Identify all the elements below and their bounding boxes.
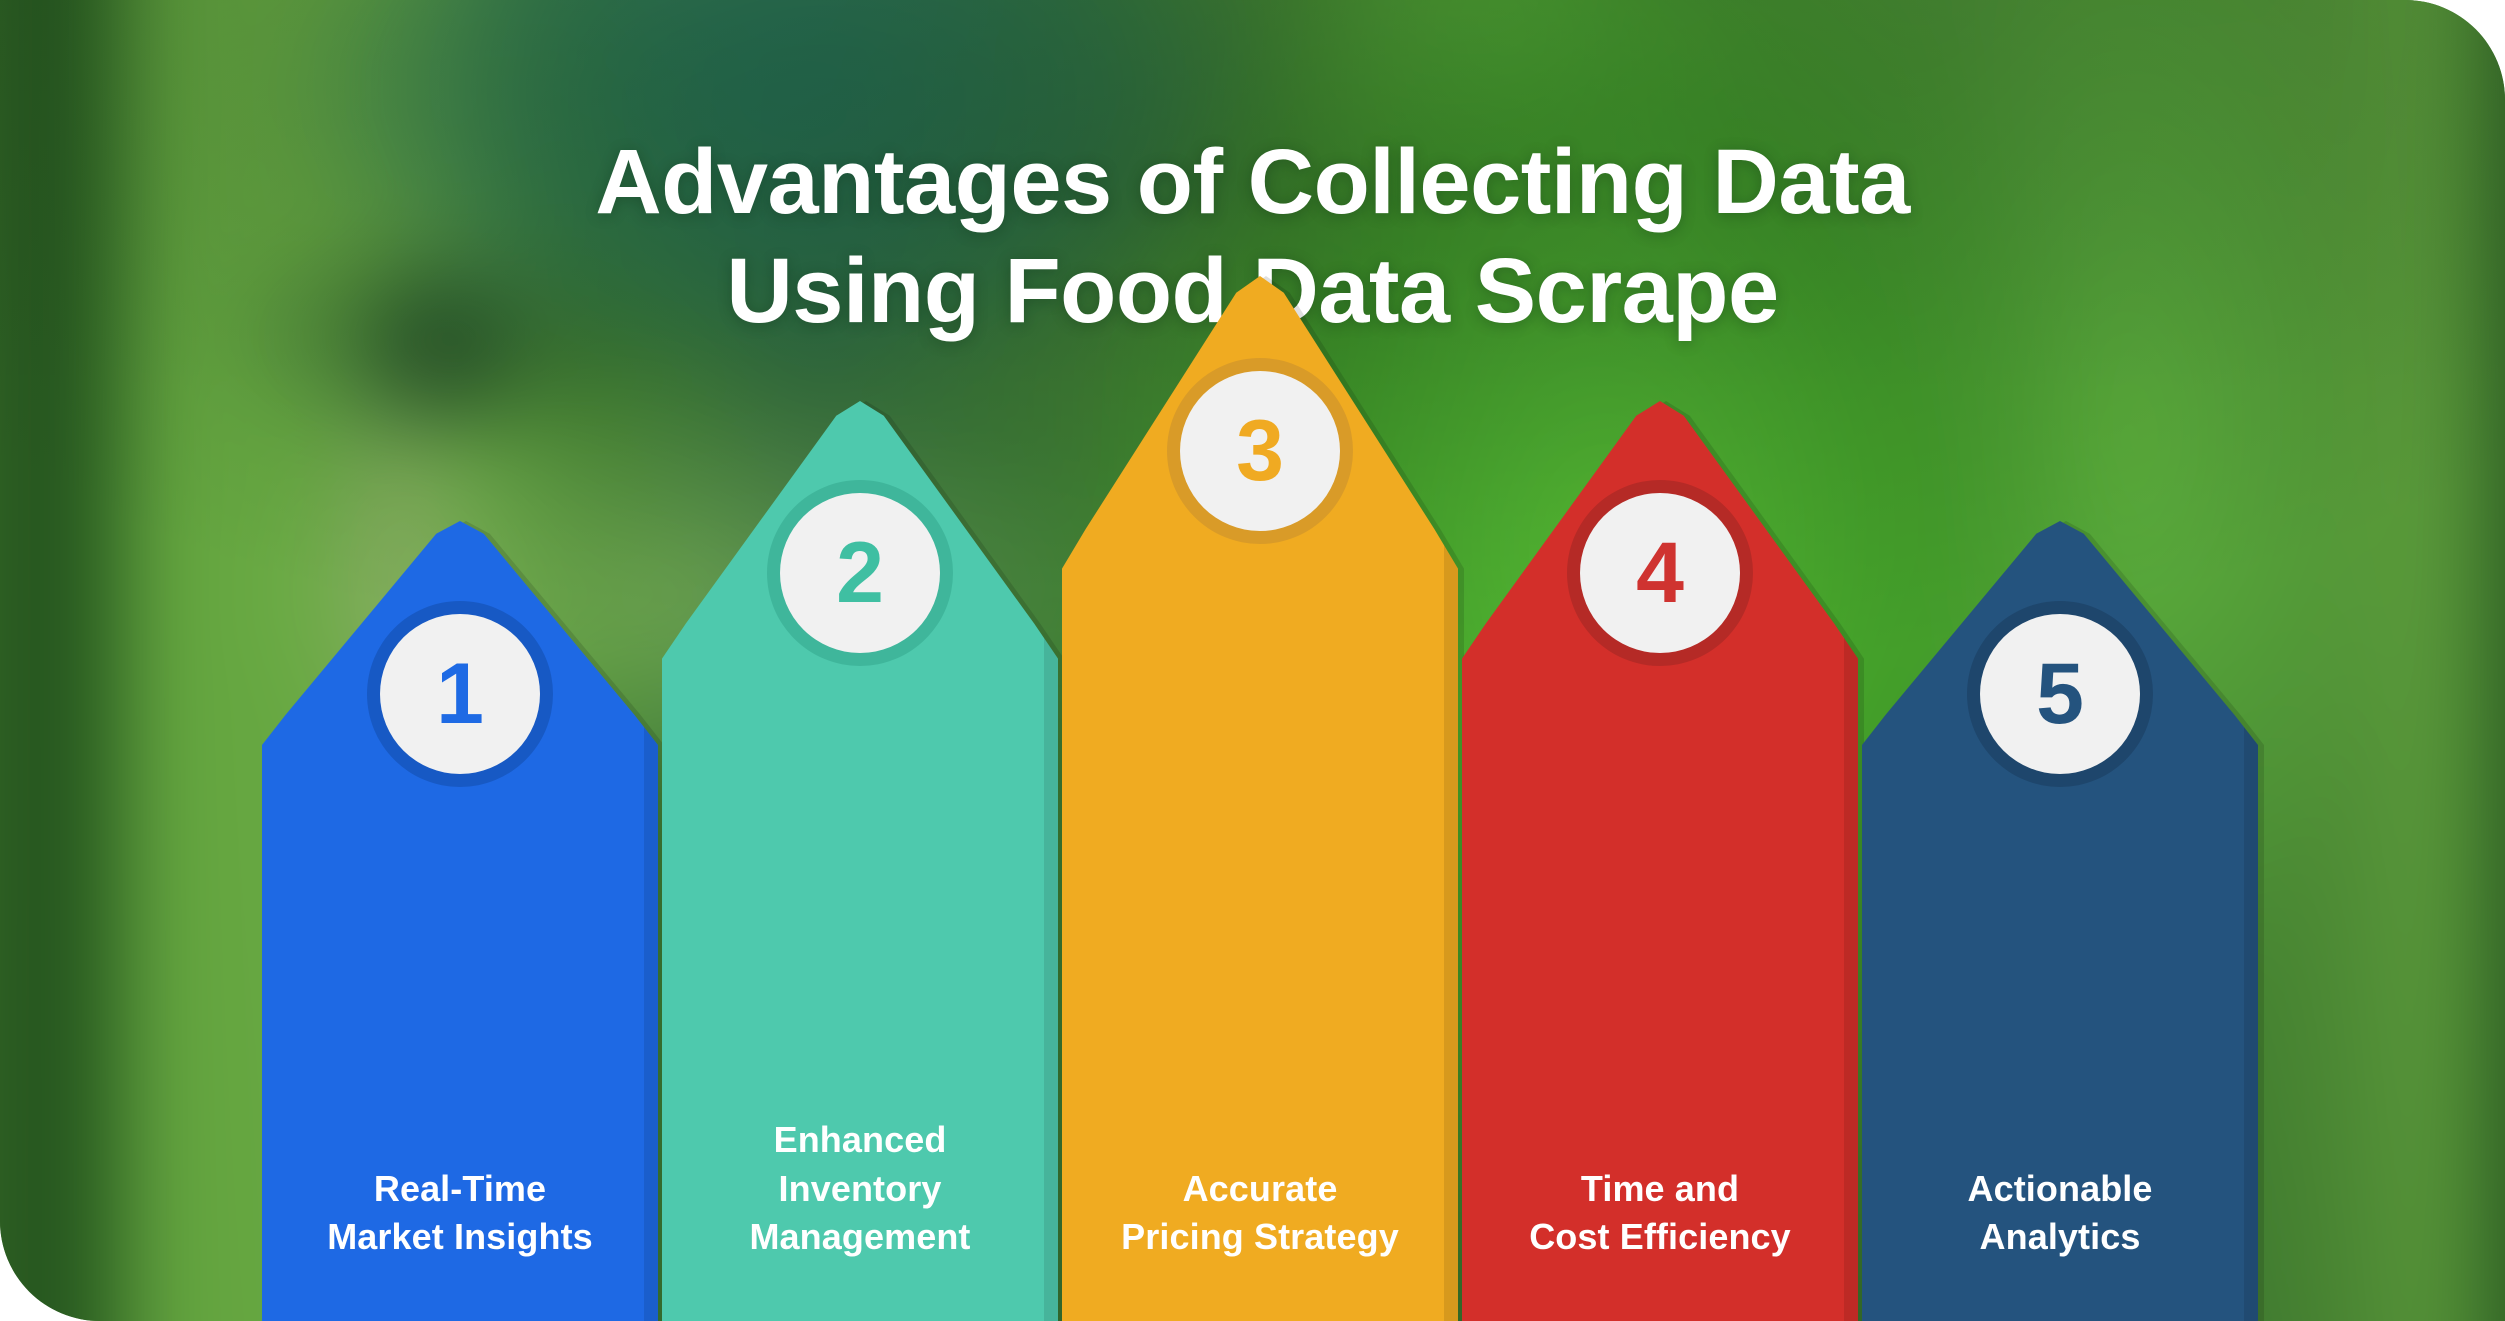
pillar-caption-3: Accurate Pricing Strategy <box>1062 1165 1458 1261</box>
pillar-caption-1: Real-Time Market Insights <box>262 1165 658 1261</box>
pillar-caption-5: Actionable Analytics <box>1862 1165 2258 1261</box>
pillar-shape-5: 5 Actionable Analytics <box>1862 521 2258 1321</box>
pillar-badge-3: 3 <box>1180 371 1340 531</box>
infographic-poster: Advantages of Collecting Data Using Food… <box>0 0 2505 1321</box>
pillar-caption-2: Enhanced Inventory Management <box>662 1116 1058 1261</box>
pillar-number-5: 5 <box>2036 651 2084 737</box>
pillar-item-1[interactable]: 1 Real-Time Market Insights <box>262 521 658 1321</box>
pillar-shape-3: 3 Accurate Pricing Strategy <box>1062 276 1458 1321</box>
pillar-number-1: 1 <box>436 651 484 737</box>
pillar-shape-1: 1 Real-Time Market Insights <box>262 521 658 1321</box>
pillar-badge-4: 4 <box>1580 493 1740 653</box>
pillar-badge-5: 5 <box>1980 614 2140 774</box>
pillar-item-5[interactable]: 5 Actionable Analytics <box>1862 521 2258 1321</box>
pillars-row: 1 Real-Time Market Insights 2 Enhanced I… <box>262 271 2262 1321</box>
pillar-item-2[interactable]: 2 Enhanced Inventory Management <box>662 401 1058 1321</box>
pillar-number-4: 4 <box>1636 530 1684 616</box>
pillar-badge-1: 1 <box>380 614 540 774</box>
pillar-shape-4: 4 Time and Cost Efficiency <box>1462 401 1858 1321</box>
pillar-number-3: 3 <box>1236 408 1284 494</box>
pillar-item-4[interactable]: 4 Time and Cost Efficiency <box>1462 401 1858 1321</box>
pillar-item-3[interactable]: 3 Accurate Pricing Strategy <box>1062 276 1458 1321</box>
pillar-badge-2: 2 <box>780 493 940 653</box>
pillar-caption-4: Time and Cost Efficiency <box>1462 1165 1858 1261</box>
pillar-number-2: 2 <box>836 530 884 616</box>
pillar-shape-2: 2 Enhanced Inventory Management <box>662 401 1058 1321</box>
